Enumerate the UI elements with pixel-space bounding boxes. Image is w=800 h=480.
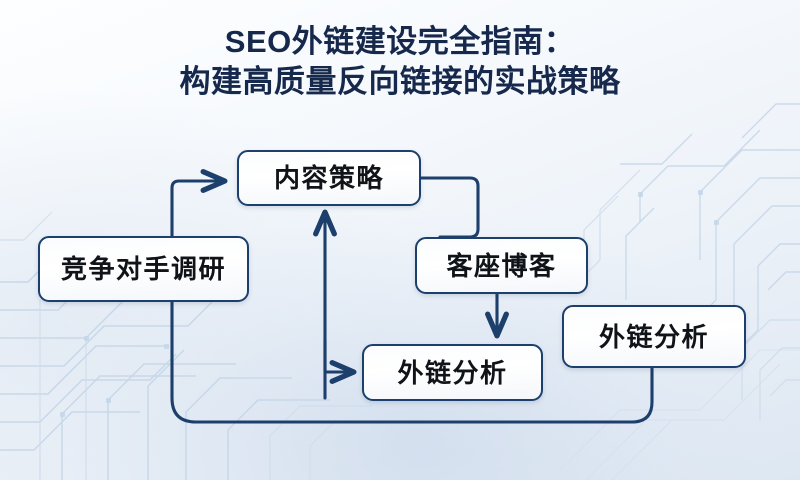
flow-node-label: 竞争对手调研 <box>61 256 226 282</box>
edge-competitor-to-content <box>172 181 223 236</box>
flow-node-backlink-analysis-1[interactable]: 外链分析 <box>362 344 543 401</box>
edge-content-to-guestpost <box>421 178 478 237</box>
flow-node-label: 客座博客 <box>446 253 556 279</box>
flow-node-content-strategy[interactable]: 内容策略 <box>237 150 421 206</box>
flow-node-backlink-analysis-2[interactable]: 外链分析 <box>562 305 746 368</box>
flow-node-competitor-research[interactable]: 竞争对手调研 <box>38 236 249 302</box>
flow-node-label: 外链分析 <box>397 360 507 386</box>
edge-elbow-into-backlink1 <box>325 340 352 372</box>
flow-node-guest-post[interactable]: 客座博客 <box>415 237 588 294</box>
flow-node-label: 内容策略 <box>274 165 384 191</box>
flow-node-label: 外链分析 <box>599 324 709 350</box>
title-line-primary: SEO外链建设完全指南： <box>0 22 800 62</box>
page-title: SEO外链建设完全指南： 构建高质量反向链接的实战策略 <box>0 22 800 101</box>
slide-canvas: SEO外链建设完全指南： 构建高质量反向链接的实战策略 竞争对手调研 内容策略 … <box>0 0 800 480</box>
title-line-secondary: 构建高质量反向链接的实战策略 <box>0 62 800 102</box>
